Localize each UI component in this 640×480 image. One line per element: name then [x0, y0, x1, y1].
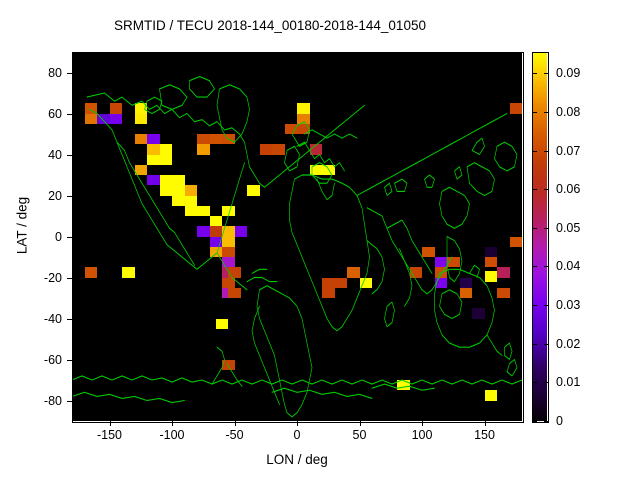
- colorbar-tick-mark: [544, 189, 548, 190]
- colorbar-tick-mark: [533, 305, 537, 306]
- y-tick-mark: [67, 401, 72, 402]
- page-title: SRMTID / TECU 2018-144_00180-2018-144_01…: [0, 18, 540, 33]
- y-tick-mark: [67, 196, 72, 197]
- heatmap-cell: [272, 144, 285, 154]
- heatmap-cell: [435, 267, 448, 277]
- heatmap-cell: [135, 114, 148, 124]
- heatmap-cell: [410, 267, 423, 277]
- heatmap-cell: [422, 247, 435, 257]
- colorbar-tick-mark: [544, 151, 548, 152]
- heatmap-cell: [397, 380, 410, 390]
- colorbar-tick-mark: [533, 266, 537, 267]
- heatmap-cell: [228, 288, 241, 298]
- y-tick-mark: [67, 114, 72, 115]
- colorbar-tick-mark: [533, 344, 537, 345]
- heatmap-cell: [160, 155, 173, 165]
- colorbar-tick-mark: [533, 382, 537, 383]
- y-tick-label: -40: [44, 312, 62, 326]
- x-tick-label: 100: [412, 428, 433, 442]
- heatmap-cell: [222, 206, 235, 216]
- colorbar-tick-mark: [533, 189, 537, 190]
- heatmap-cell: [510, 237, 523, 247]
- heatmap-cell: [472, 308, 485, 318]
- heatmap-cell: [185, 185, 198, 195]
- heatmap-cell: [185, 206, 198, 216]
- heatmap-cell: [135, 103, 148, 113]
- colorbar-tick-mark: [533, 228, 537, 229]
- x-tick-label: 150: [474, 428, 495, 442]
- colorbar-tick-mark: [533, 112, 537, 113]
- heatmap-cell: [222, 226, 235, 236]
- colorbar-tick-label: 0.05: [556, 221, 580, 235]
- heatmap-cell: [435, 278, 448, 288]
- heatmap-cell: [235, 226, 248, 236]
- colorbar-gradient: [532, 52, 547, 421]
- x-tick-mark: [422, 421, 423, 426]
- x-tick-mark: [485, 421, 486, 426]
- heatmap-cell: [147, 175, 160, 185]
- y-tick-mark: [67, 237, 72, 238]
- y-tick-label: 0: [55, 230, 62, 244]
- heatmap-cell: [285, 124, 298, 134]
- heatmap-cell: [172, 185, 185, 195]
- colorbar-tick-label: 0: [556, 414, 563, 428]
- heatmap-cell: [222, 278, 235, 288]
- colorbar-tick-mark: [544, 344, 548, 345]
- heatmap-cell: [85, 267, 98, 277]
- x-tick-label: -100: [159, 428, 184, 442]
- heatmap-cell: [197, 226, 210, 236]
- heatmap-cell: [485, 247, 498, 257]
- y-tick-label: 40: [48, 148, 62, 162]
- x-tick-mark: [172, 421, 173, 426]
- heatmap-cell: [497, 267, 510, 277]
- y-tick-label: -80: [44, 394, 62, 408]
- y-tick-mark: [67, 73, 72, 74]
- heatmap-cell: [110, 114, 123, 124]
- heatmap-cell: [322, 165, 335, 175]
- heatmap-cell: [297, 124, 310, 134]
- colorbar-tick-label: 0.06: [556, 182, 580, 196]
- y-axis-title: LAT / deg: [15, 116, 30, 336]
- heatmap-cell: [160, 185, 173, 195]
- colorbar-tick-mark: [533, 151, 537, 152]
- heatmap-cell: [210, 226, 223, 236]
- heatmap-cell: [97, 114, 110, 124]
- y-tick-mark: [67, 155, 72, 156]
- colorbar-tick-label: 0.02: [556, 337, 580, 351]
- map-plot-area[interactable]: [72, 52, 522, 421]
- heatmap-cells-layer: [72, 52, 522, 421]
- heatmap-cell: [360, 278, 373, 288]
- x-axis-title: LON / deg: [72, 452, 522, 467]
- x-tick-mark: [360, 421, 361, 426]
- heatmap-cell: [460, 278, 473, 288]
- heatmap-cell: [435, 257, 448, 267]
- heatmap-cell: [85, 103, 98, 113]
- heatmap-cell: [197, 144, 210, 154]
- heatmap-cell: [460, 288, 473, 298]
- colorbar-tick-mark: [544, 112, 548, 113]
- heatmap-cell: [216, 319, 229, 329]
- y-tick-mark: [67, 278, 72, 279]
- heatmap-cell: [222, 257, 235, 267]
- y-tick-label: 20: [48, 189, 62, 203]
- heatmap-cell: [160, 175, 173, 185]
- colorbar-tick-mark: [544, 382, 548, 383]
- y-tick-label: 60: [48, 107, 62, 121]
- colorbar-tick-mark: [544, 421, 548, 422]
- heatmap-cell: [110, 103, 123, 113]
- x-tick-mark: [110, 421, 111, 426]
- y-tick-label: -20: [44, 271, 62, 285]
- heatmap-cell: [485, 271, 498, 281]
- colorbar-tick-label: 0.04: [556, 259, 580, 273]
- heatmap-cell: [135, 134, 148, 144]
- heatmap-cell: [485, 390, 498, 400]
- heatmap-cell: [447, 257, 460, 267]
- colorbar-tick-label: 0.08: [556, 105, 580, 119]
- heatmap-cell: [310, 165, 323, 175]
- colorbar-tick-label: 0.03: [556, 298, 580, 312]
- colorbar-tick-mark: [544, 228, 548, 229]
- y-tick-mark: [67, 360, 72, 361]
- heatmap-cell: [160, 144, 173, 154]
- x-tick-label: 0: [294, 428, 301, 442]
- heatmap-cell: [322, 278, 335, 288]
- heatmap-cell: [335, 278, 348, 288]
- heatmap-cell: [147, 155, 160, 165]
- heatmap-cell: [322, 288, 335, 298]
- colorbar-tick-label: 0.09: [556, 66, 580, 80]
- y-tick-mark: [67, 319, 72, 320]
- heatmap-cell: [228, 267, 241, 277]
- colorbar-tick-mark: [544, 266, 548, 267]
- x-tick-label: -150: [97, 428, 122, 442]
- heatmap-cell: [210, 134, 223, 144]
- heatmap-cell: [297, 114, 310, 124]
- heatmap-cell: [122, 267, 135, 277]
- heatmap-cell: [310, 144, 323, 154]
- y-tick-label: 80: [48, 66, 62, 80]
- heatmap-cell: [485, 257, 498, 267]
- heatmap-cell: [147, 134, 160, 144]
- colorbar-tick-mark: [533, 421, 537, 422]
- heatmap-cell: [210, 216, 223, 226]
- heatmap-cell: [297, 103, 310, 113]
- heatmap-cell: [172, 175, 185, 185]
- heatmap-cell: [247, 185, 260, 195]
- heatmap-cell: [222, 247, 235, 257]
- colorbar-tick-mark: [544, 73, 548, 74]
- heatmap-cell: [85, 114, 98, 124]
- heatmap-cell: [260, 144, 273, 154]
- heatmap-cell: [147, 144, 160, 154]
- heatmap-cell: [197, 134, 210, 144]
- heatmap-cell: [172, 196, 185, 206]
- y-tick-label: -60: [44, 353, 62, 367]
- x-tick-label: -50: [225, 428, 243, 442]
- colorbar-tick-label: 0.07: [556, 144, 580, 158]
- colorbar-tick-mark: [544, 305, 548, 306]
- heatmap-cell: [497, 288, 510, 298]
- heatmap-cell: [135, 165, 148, 175]
- x-tick-label: 50: [353, 428, 367, 442]
- heatmap-cell: [197, 206, 210, 216]
- colorbar[interactable]: [532, 52, 547, 421]
- x-tick-mark: [235, 421, 236, 426]
- heatmap-cell: [210, 247, 223, 257]
- heatmap-cell: [510, 103, 523, 113]
- heatmap-cell: [222, 134, 235, 144]
- heatmap-cell: [222, 237, 235, 247]
- x-tick-mark: [297, 421, 298, 426]
- heatmap-cell: [210, 237, 223, 247]
- heatmap-cell: [185, 196, 198, 206]
- heatmap-cell: [222, 360, 235, 370]
- heatmap-cell: [347, 267, 360, 277]
- colorbar-tick-label: 0.01: [556, 375, 580, 389]
- colorbar-tick-mark: [533, 73, 537, 74]
